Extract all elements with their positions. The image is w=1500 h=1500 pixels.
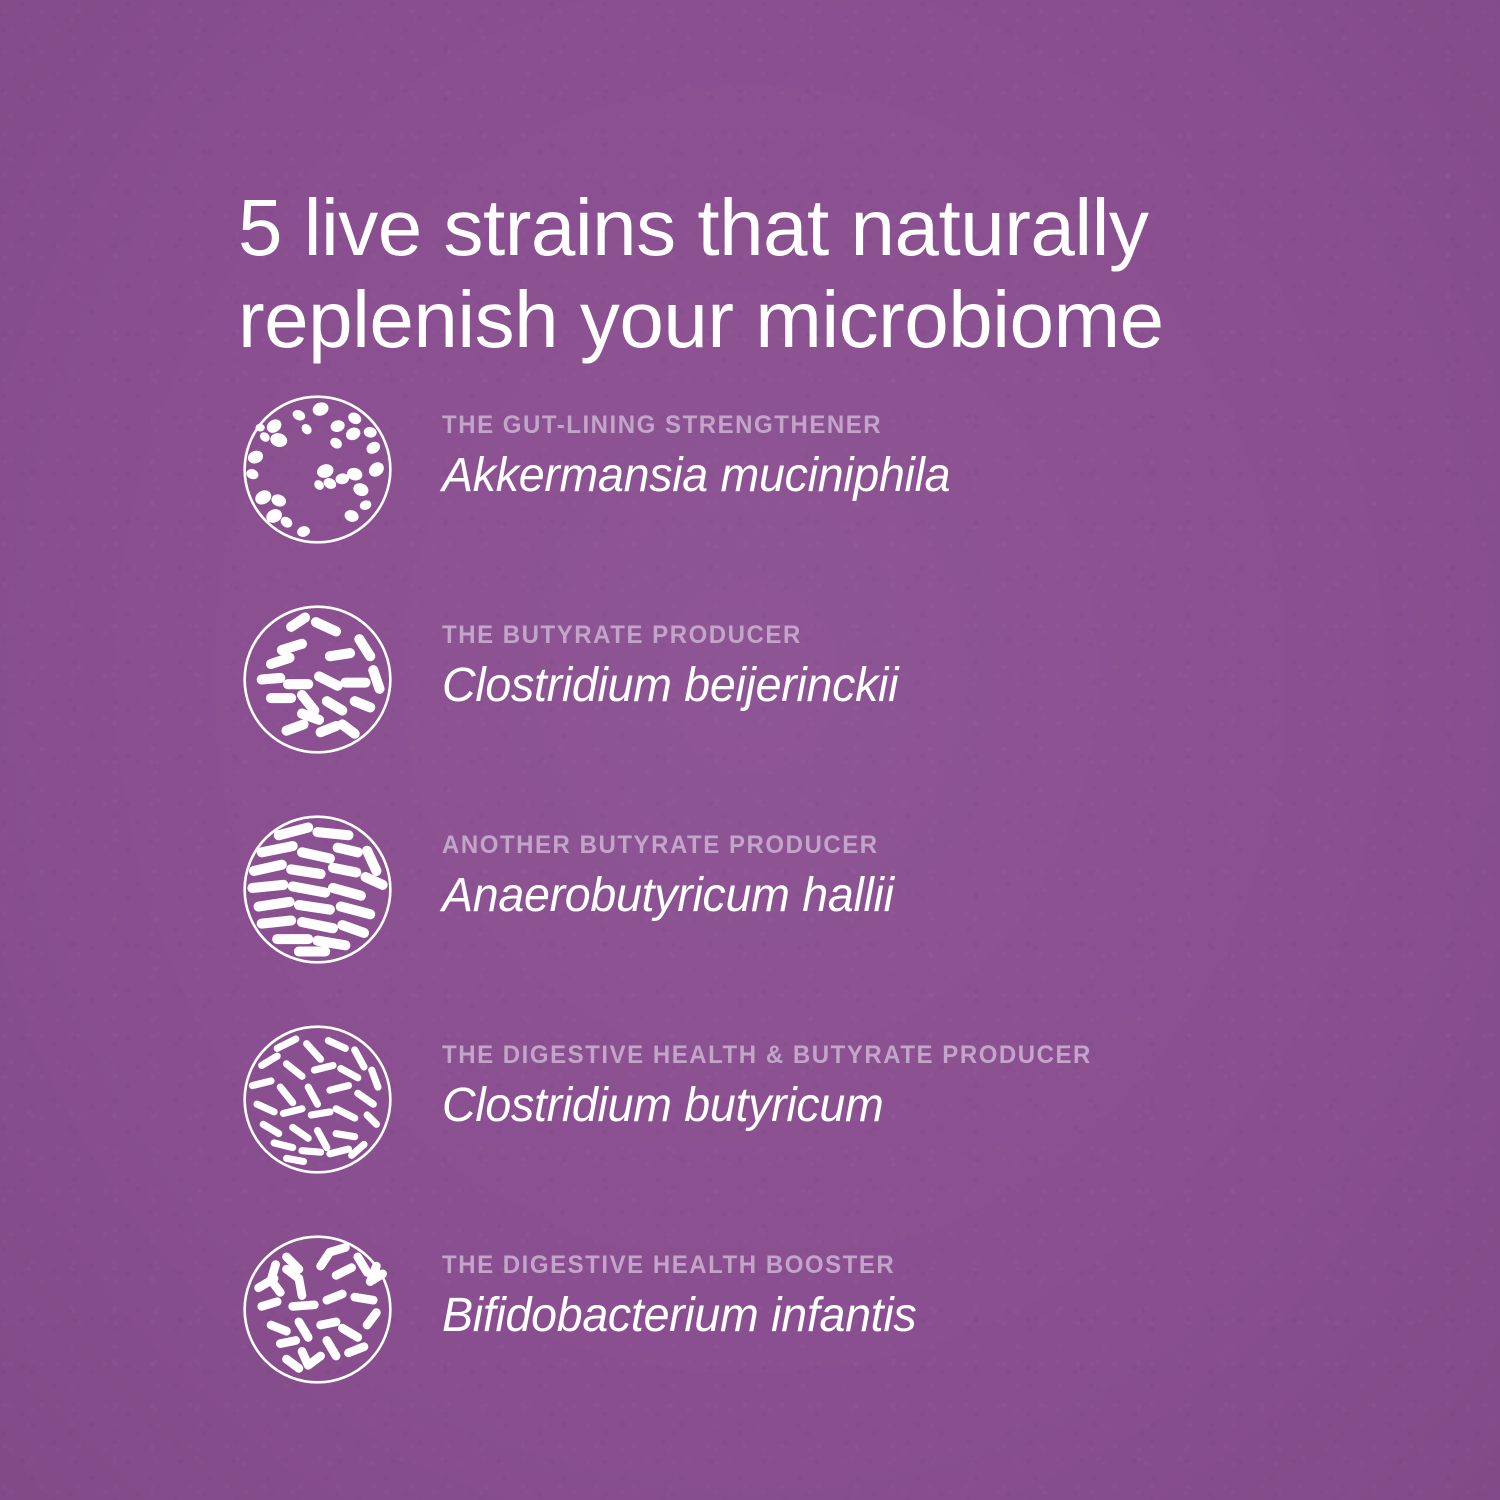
strain-list: THE GUT-LINING STRENGTHENER Akkermansia … (0, 392, 1500, 1442)
strain-text-block: THE DIGESTIVE HEALTH & BUTYRATE PRODUCER… (442, 1040, 1119, 1136)
strain-eyebrow: THE DIGESTIVE HEALTH & BUTYRATE PRODUCER (442, 1040, 1092, 1070)
strain-list-item: THE DIGESTIVE HEALTH BOOSTER Bifidobacte… (0, 1232, 1500, 1442)
strain-eyebrow: THE DIGESTIVE HEALTH BOOSTER (442, 1250, 911, 1280)
page-title: 5 live strains that naturally replenish … (238, 182, 1313, 366)
strain-name: Clostridium beijerinckii (442, 656, 898, 716)
strain-list-item: ANOTHER BUTYRATE PRODUCER Anaerobutyricu… (0, 812, 1500, 1022)
strain-eyebrow: ANOTHER BUTYRATE PRODUCER (442, 830, 889, 860)
strain-text-block: THE DIGESTIVE HEALTH BOOSTER Bifidobacte… (442, 1250, 931, 1346)
petri-dish-thin-rods-icon (240, 1022, 395, 1177)
strain-name: Bifidobacterium infantis (442, 1286, 916, 1346)
petri-dish-short-rods-icon (240, 602, 395, 757)
petri-dish-long-rods-icon (240, 812, 395, 967)
strain-eyebrow: THE BUTYRATE PRODUCER (442, 620, 893, 650)
petri-dish-branched-rods-icon (240, 1232, 395, 1387)
strain-text-block: THE BUTYRATE PRODUCER Clostridium beijer… (442, 620, 912, 716)
strain-eyebrow: THE GUT-LINING STRENGTHENER (442, 410, 945, 440)
strain-name: Akkermansia muciniphila (442, 446, 950, 506)
strain-name: Clostridium butyricum (442, 1076, 1099, 1136)
strain-infographic-poster: 5 live strains that naturally replenish … (0, 0, 1500, 1500)
strain-text-block: THE GUT-LINING STRENGTHENER Akkermansia … (442, 410, 966, 506)
strain-list-item: THE DIGESTIVE HEALTH & BUTYRATE PRODUCER… (0, 1022, 1500, 1232)
strain-list-item: THE BUTYRATE PRODUCER Clostridium beijer… (0, 602, 1500, 812)
petri-dish-cocci-icon (240, 392, 395, 547)
strain-list-item: THE GUT-LINING STRENGTHENER Akkermansia … (0, 392, 1500, 602)
strain-text-block: ANOTHER BUTYRATE PRODUCER Anaerobutyricu… (442, 830, 908, 926)
strain-name: Anaerobutyricum hallii (442, 866, 894, 926)
